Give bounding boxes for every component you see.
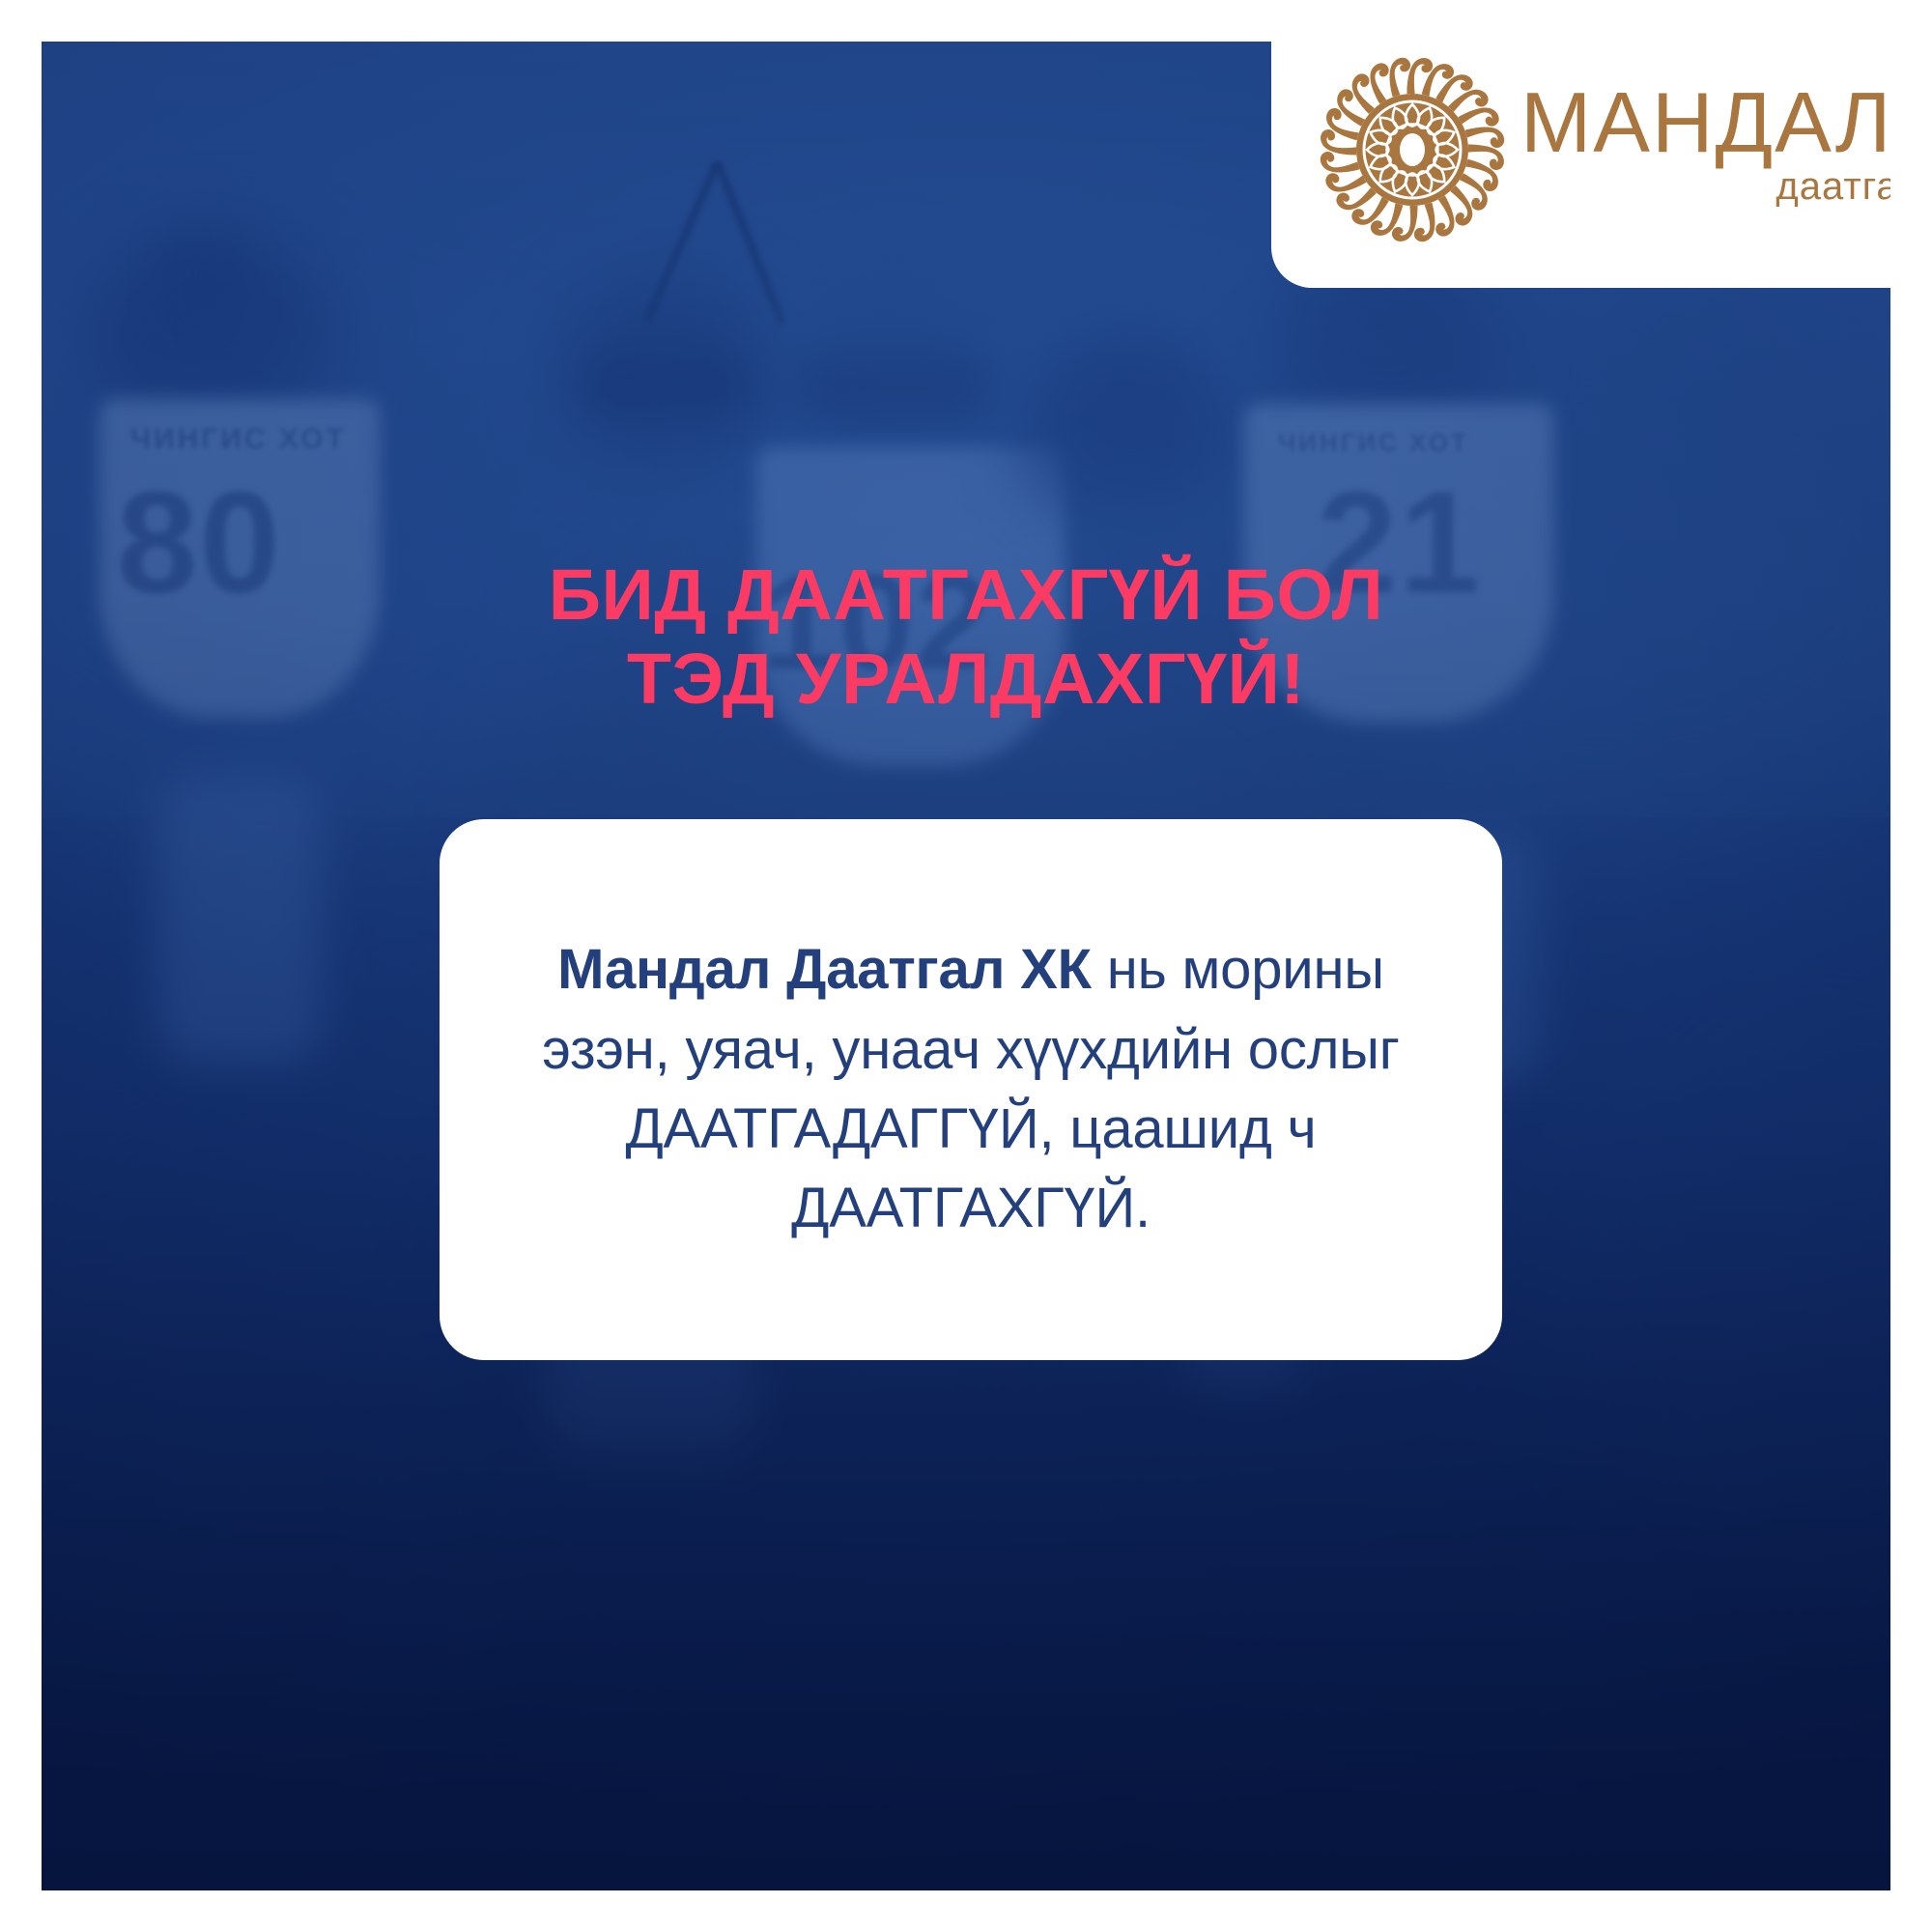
headline-line-1: БИД ДААТГАХГҮЙ БОЛ bbox=[42, 554, 1890, 638]
content-panel: ЧИНГИС ХОТ 80 102 ЧИНГИС ХОТ 21 bbox=[42, 42, 1890, 1890]
brand-wordmark-subtitle: даатгал bbox=[1520, 165, 1890, 209]
message-card-bold-lead: Мандал Даатгал ХК bbox=[557, 938, 1092, 1001]
logo-plate: МАНДАЛ даатгал bbox=[1271, 42, 1890, 288]
message-card: Мандал Даатгал ХК нь морины эзэн, уяач, … bbox=[440, 819, 1502, 1360]
headline: БИД ДААТГАХГҮЙ БОЛ ТЭД УРАЛДАХГҮЙ! bbox=[42, 554, 1890, 721]
mandala-sun-icon bbox=[1316, 53, 1509, 246]
poster-root: ЧИНГИС ХОТ 80 102 ЧИНГИС ХОТ 21 bbox=[0, 0, 1932, 1932]
brand-wordmark-block: МАНДАЛ даатгал bbox=[1520, 82, 1890, 209]
message-card-text: Мандал Даатгал ХК нь морины эзэн, уяач, … bbox=[536, 930, 1406, 1248]
headline-line-2: ТЭД УРАЛДАХГҮЙ! bbox=[42, 638, 1890, 722]
brand-wordmark: МАНДАЛ bbox=[1520, 82, 1890, 163]
